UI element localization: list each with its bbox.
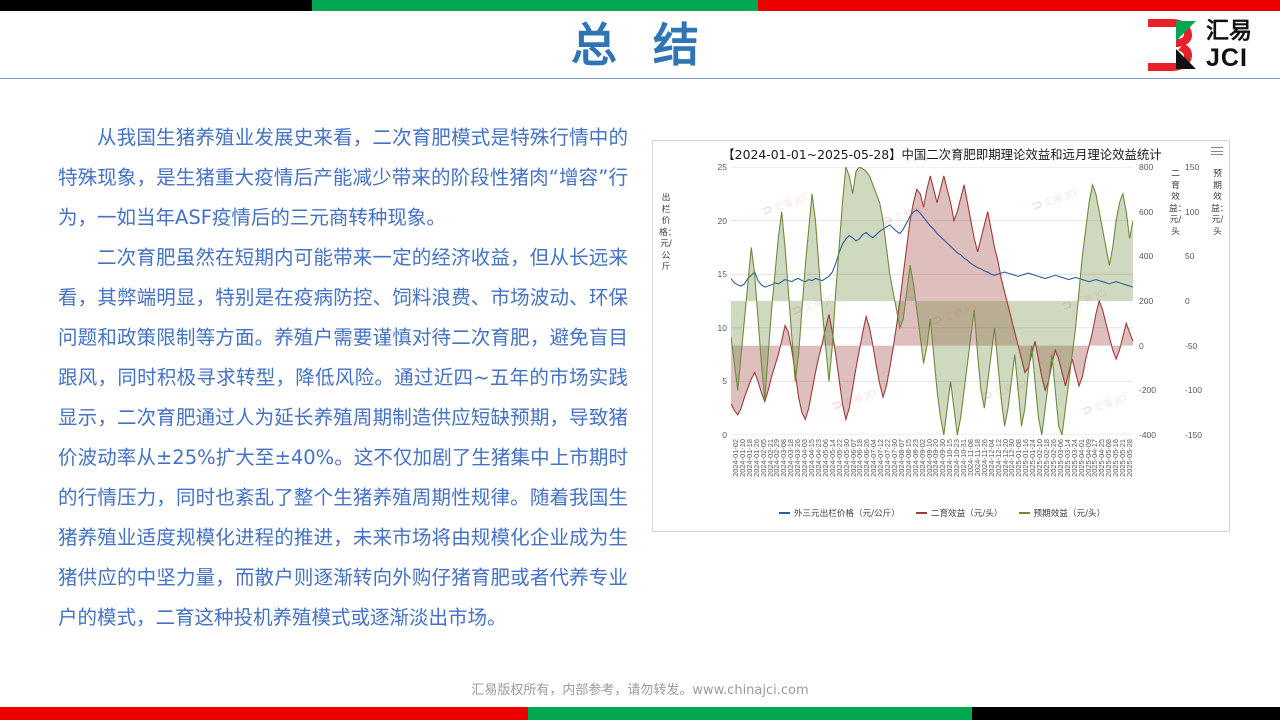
top-bar-red-segment [758, 0, 1280, 11]
axis-tick: 400 [1139, 251, 1153, 261]
chart-plot-inner: ⊃ 汇易 JCI⊃ 汇易 JCI⊃ 汇易 JCI⊃ 汇易 JCI⊃ 汇易 JCI… [731, 167, 1133, 435]
axis-tick: 5 [722, 376, 727, 386]
legend-swatch [779, 512, 790, 514]
bottom-color-bar [0, 707, 1280, 720]
axis-tick: 10 [718, 323, 727, 333]
legend-swatch [1019, 512, 1030, 514]
page-title: 总 结 [0, 14, 1280, 76]
logo-english-name: JCI [1206, 46, 1252, 71]
chart-right-axis1-ticks: 8006004002000-200-400 [1137, 167, 1167, 435]
jci-logo-mark [1146, 17, 1200, 73]
axis-tick: 150 [1185, 162, 1199, 172]
axis-tick: 200 [1139, 296, 1153, 306]
legend-item[interactable]: 二育效益（元/头） [916, 507, 1003, 519]
chart-legend: 外三元出栏价格（元/公斤）二育效益（元/头）预期效益（元/头） [653, 507, 1231, 519]
axis-tick: -50 [1185, 341, 1197, 351]
logo-chinese-name: 汇易 [1206, 20, 1252, 43]
chart-right-axis1-title: 二育效益：元/头 [1169, 169, 1182, 238]
chart-menu-icon[interactable] [1211, 147, 1223, 158]
axis-tick: -100 [1185, 385, 1202, 395]
axis-tick: 20 [718, 216, 727, 226]
chart-right-axis2-ticks: 150100500-50-100-150 [1183, 167, 1209, 435]
bottom-bar-black-segment [972, 707, 1280, 720]
title-divider [0, 78, 1280, 79]
chart-area [731, 176, 1133, 419]
bottom-bar-red-segment [0, 707, 528, 720]
axis-tick: 600 [1139, 207, 1153, 217]
axis-tick: -150 [1185, 430, 1202, 440]
axis-tick: 800 [1139, 162, 1153, 172]
top-bar-green-segment [312, 0, 758, 11]
axis-tick: 100 [1185, 207, 1199, 217]
chart-left-axis-title: 出栏价格：元/公斤 [659, 193, 673, 274]
chart-plot-area: ⊃ 汇易 JCI⊃ 汇易 JCI⊃ 汇易 JCI⊃ 汇易 JCI⊃ 汇易 JCI… [731, 167, 1133, 435]
chart-panel: 【2024-01-01~2025-05-28】中国二次育肥即期理论效益和远月理论… [652, 140, 1230, 532]
logo-wordmark: 汇易 JCI [1206, 20, 1252, 71]
legend-swatch [916, 512, 927, 514]
top-color-bar [0, 0, 1280, 11]
legend-item[interactable]: 外三元出栏价格（元/公斤） [779, 507, 900, 519]
axis-tick: -400 [1139, 430, 1156, 440]
chart-x-axis-labels: 2024-01-022024-01-102024-01-182024-01-26… [731, 439, 1133, 501]
legend-label: 外三元出栏价格（元/公斤） [794, 507, 900, 519]
summary-paragraph-1: 从我国生猪养殖业发展史来看，二次育肥模式是特殊行情中的特殊现象，是生猪重大疫情后… [58, 118, 628, 238]
chart-svg [731, 167, 1133, 435]
legend-label: 预期效益（元/头） [1034, 507, 1106, 519]
legend-item[interactable]: 预期效益（元/头） [1019, 507, 1106, 519]
brand-logo: 汇易 JCI [1146, 14, 1266, 76]
axis-tick: 0 [1185, 296, 1190, 306]
chart-right-axis2-title: 预期效益：元/头 [1211, 169, 1224, 238]
top-bar-black-segment [0, 0, 312, 11]
chart-left-axis-ticks: 2520151050 [699, 167, 729, 435]
summary-paragraph-2: 二次育肥虽然在短期内可能带来一定的经济收益，但从长远来看，其弊端明显，特别是在疫… [58, 238, 628, 638]
legend-label: 二育效益（元/头） [931, 507, 1003, 519]
axis-tick: 25 [718, 162, 727, 172]
title-area: 总 结 [0, 11, 1280, 79]
axis-tick: -200 [1139, 385, 1156, 395]
summary-text-block: 从我国生猪养殖业发展史来看，二次育肥模式是特殊行情中的特殊现象，是生猪重大疫情后… [58, 118, 628, 638]
jci-logo-icon [1146, 17, 1200, 73]
footer-copyright: 汇易版权所有，内部参考，请勿转发。www.chinajci.com [0, 679, 1280, 698]
axis-tick: 0 [1139, 341, 1144, 351]
axis-tick: 0 [722, 430, 727, 440]
axis-tick: 15 [718, 269, 727, 279]
bottom-bar-green-segment [528, 707, 972, 720]
x-axis-tick-label: 2025-05-28 [1125, 439, 1134, 477]
chart-title: 【2024-01-01~2025-05-28】中国二次育肥即期理论效益和远月理论… [653, 145, 1231, 163]
axis-tick: 50 [1185, 251, 1194, 261]
slide-root: 总 结 汇易 JCI 从我国生猪养殖业发展史来看，二次育肥模式是特殊行情中的特殊… [0, 0, 1280, 720]
